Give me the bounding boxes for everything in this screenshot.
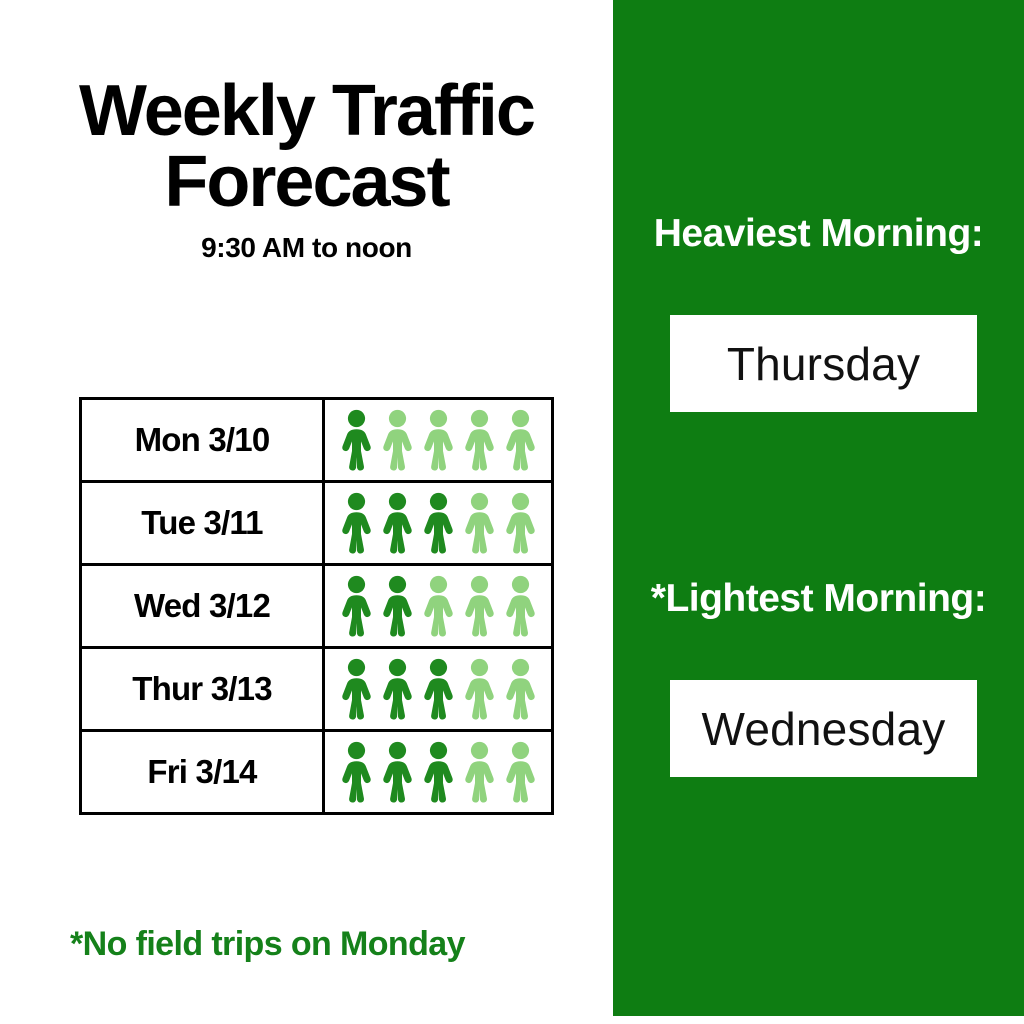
- person-icon-empty: [500, 492, 541, 554]
- person-icon-filled: [336, 409, 377, 471]
- person-icon-filled: [418, 741, 459, 803]
- weekly-traffic-table: Mon 3/10 Tue 3/11 Wed 3/12 Thur 3/1: [79, 397, 554, 815]
- summary-panel: Heaviest Morning: Thursday *Lightest Mor…: [613, 0, 1024, 1016]
- title-block: Weekly Traffic Forecast 9:30 AM to noon: [0, 76, 613, 264]
- traffic-icons-cell: [324, 731, 553, 814]
- heaviest-morning-label: Heaviest Morning:: [613, 212, 1024, 255]
- person-icon-empty: [500, 575, 541, 637]
- person-icon-empty: [459, 575, 500, 637]
- icon-row: [325, 566, 551, 646]
- lightest-morning-value: Wednesday: [702, 702, 946, 756]
- lightest-morning-box: Wednesday: [670, 680, 977, 777]
- person-icon-empty: [459, 492, 500, 554]
- person-icon-filled: [336, 575, 377, 637]
- traffic-icons-cell: [324, 565, 553, 648]
- traffic-icons-cell: [324, 648, 553, 731]
- day-cell: Thur 3/13: [81, 648, 324, 731]
- person-icon-empty: [418, 575, 459, 637]
- person-icon-filled: [377, 658, 418, 720]
- icon-row: [325, 732, 551, 812]
- page-subtitle: 9:30 AM to noon: [0, 232, 613, 264]
- traffic-icons-cell: [324, 399, 553, 482]
- person-icon-empty: [500, 409, 541, 471]
- person-icon-filled: [418, 492, 459, 554]
- person-icon-empty: [377, 409, 418, 471]
- heaviest-morning-box: Thursday: [670, 315, 977, 412]
- table-row: Wed 3/12: [81, 565, 553, 648]
- person-icon-filled: [418, 658, 459, 720]
- footnote-text: *No field trips on Monday: [70, 925, 465, 964]
- traffic-icons-cell: [324, 482, 553, 565]
- person-icon-filled: [377, 741, 418, 803]
- icon-row: [325, 400, 551, 480]
- icon-row: [325, 649, 551, 729]
- person-icon-filled: [336, 658, 377, 720]
- table-row: Thur 3/13: [81, 648, 553, 731]
- table-body: Mon 3/10 Tue 3/11 Wed 3/12 Thur 3/1: [81, 399, 553, 814]
- person-icon-filled: [377, 492, 418, 554]
- heaviest-morning-value: Thursday: [727, 337, 920, 391]
- table-row: Mon 3/10: [81, 399, 553, 482]
- person-icon-filled: [377, 575, 418, 637]
- person-icon-empty: [500, 741, 541, 803]
- day-cell: Tue 3/11: [81, 482, 324, 565]
- person-icon-filled: [336, 492, 377, 554]
- person-icon-empty: [459, 409, 500, 471]
- day-label: Mon 3/10: [135, 421, 270, 458]
- person-icon-empty: [459, 658, 500, 720]
- day-cell: Fri 3/14: [81, 731, 324, 814]
- table-row: Fri 3/14: [81, 731, 553, 814]
- table-row: Tue 3/11: [81, 482, 553, 565]
- day-label: Tue 3/11: [141, 504, 262, 541]
- day-label: Thur 3/13: [132, 670, 272, 707]
- person-icon-filled: [336, 741, 377, 803]
- day-cell: Mon 3/10: [81, 399, 324, 482]
- page-title: Weekly Traffic Forecast: [0, 76, 613, 218]
- lightest-morning-label: *Lightest Morning:: [613, 577, 1024, 620]
- day-cell: Wed 3/12: [81, 565, 324, 648]
- icon-row: [325, 483, 551, 563]
- day-label: Wed 3/12: [134, 587, 270, 624]
- person-icon-empty: [418, 409, 459, 471]
- person-icon-empty: [459, 741, 500, 803]
- person-icon-empty: [500, 658, 541, 720]
- day-label: Fri 3/14: [147, 753, 256, 790]
